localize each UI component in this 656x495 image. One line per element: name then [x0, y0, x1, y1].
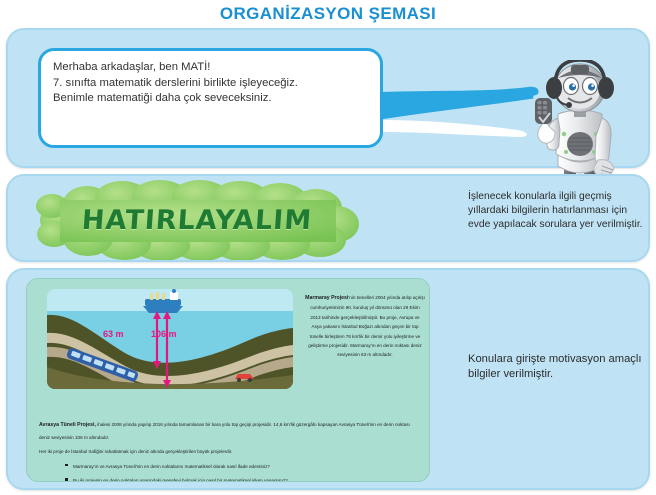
page-title: ORGANİZASYON ŞEMASI — [0, 4, 656, 24]
list-item: Bu iki projenin en derin noktaları arası… — [73, 475, 419, 482]
intro-panel: Merhaba arkadaşlar, ben MATİ! 7. sınıfta… — [6, 28, 650, 168]
speech-bubble-tail — [378, 86, 543, 138]
hatirlayalim-badge: HATIRLAYALIM — [32, 180, 362, 260]
motivation-panel: 63 m 106 m Marmaray Projesi'nin temeller… — [6, 268, 650, 490]
question-list: Marmaray'ın ve Avrasya Tüneli'nin en der… — [39, 461, 419, 482]
marmaray-rest: 'nin temelleri 2004 yılında atılıp açılı… — [308, 295, 425, 357]
speech-line-2: 7. sınıfta matematik derslerini birlikte… — [53, 76, 368, 91]
recall-panel: HATIRLAYALIM İşlenecek konularla ilgili … — [6, 174, 650, 262]
marmaray-paragraph: Marmaray Projesi'nin temelleri 2004 yılı… — [305, 293, 425, 360]
speech-line-3: Benimle matematiği daha çok seveceksiniz… — [53, 91, 368, 106]
depth-label-106: 106 m — [151, 329, 177, 339]
hatirlayalim-label: HATIRLAYALIM — [29, 180, 365, 260]
avrasya-paragraph: Avrasya Tüneli Projesi, ihalesi 2008 yıl… — [39, 419, 419, 443]
depth-label-63: 63 m — [103, 329, 124, 339]
avrasya-lead: Avrasya Tüneli Projesi, — [39, 422, 96, 428]
speech-line-1: Merhaba arkadaşlar, ben MATİ! — [53, 60, 368, 75]
organization-chart-page: ORGANİZASYON ŞEMASI Merhaba arkadaşlar, … — [0, 0, 656, 495]
motivation-card-body: Avrasya Tüneli Projesi, ihalesi 2008 yıl… — [39, 419, 419, 482]
speech-bubble: Merhaba arkadaşlar, ben MATİ! 7. sınıfta… — [38, 48, 383, 148]
marmaray-lead: Marmaray Projesi — [305, 295, 348, 301]
list-item: Marmaray'ın ve Avrasya Tüneli'nin en der… — [73, 461, 419, 473]
recall-note: İşlenecek konularla ilgili geçmiş yıllar… — [468, 190, 648, 233]
bosphorus-tunnel-cross-section-icon: 63 m 106 m — [47, 289, 293, 389]
motivation-note: Konulara girişte motivasyon amaçlı bilgi… — [468, 352, 648, 382]
both-projects-paragraph: Her iki proje de İstanbul trafiğini raha… — [39, 446, 419, 458]
motivation-content-card: 63 m 106 m Marmaray Projesi'nin temeller… — [26, 278, 430, 482]
